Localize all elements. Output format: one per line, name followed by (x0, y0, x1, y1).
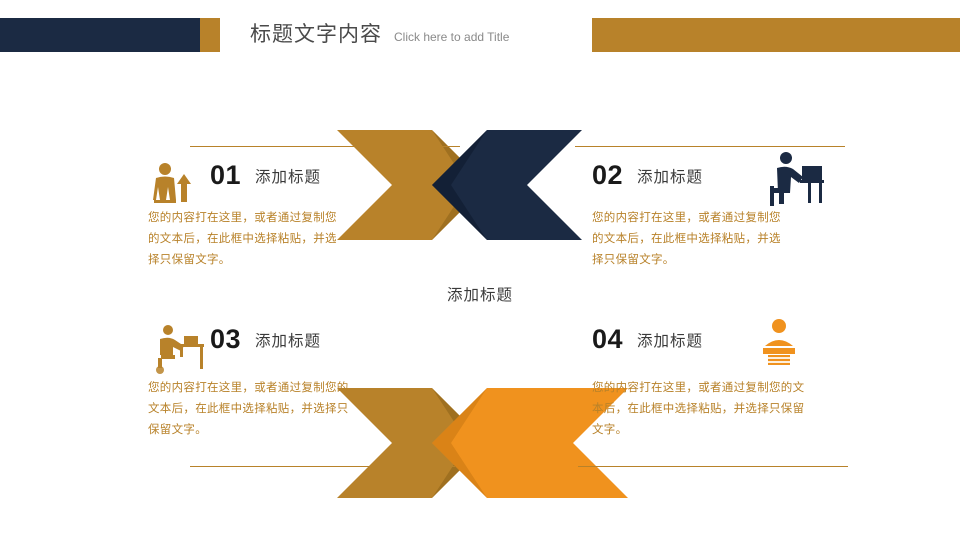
quadrant-03-head: 03 添加标题 (210, 324, 478, 355)
quadrant-02-title: 添加标题 (637, 165, 703, 187)
quadrant-03-number: 03 (210, 324, 241, 355)
quadrant-03-title: 添加标题 (255, 329, 321, 351)
person-speaking-podium-icon (752, 316, 808, 372)
divider-rule-02 (575, 146, 845, 147)
page-title: 标题文字内容 (250, 18, 382, 48)
header-bar-left (0, 18, 200, 52)
quadrant-01-number: 01 (210, 160, 241, 191)
divider-rule-04 (578, 466, 848, 467)
quadrant-02-body: 您的内容打在这里，或者通过复制您的文本后，在此框中选择粘贴，并选择只保留文字。 (592, 207, 792, 270)
quadrant-03-body: 您的内容打在这里，或者通过复制您的文本后，在此框中选择粘贴，并选择只保留文字。 (148, 377, 353, 440)
page-subtitle: Click here to add Title (394, 30, 509, 44)
center-label: 添加标题 (0, 283, 960, 305)
quadrant-02[interactable]: 02 添加标题 您的内容打在这里，或者通过复制您的文本后，在此框中选择粘贴，并选… (592, 160, 932, 270)
quadrant-02-head: 02 添加标题 (592, 160, 932, 191)
quadrant-01-head: 01 添加标题 (210, 160, 478, 191)
person-at-desk-icon (148, 322, 206, 376)
quadrant-02-number: 02 (592, 160, 623, 191)
header-bar-left-accent (200, 18, 220, 52)
person-presenting-chart-icon (148, 160, 202, 214)
header-bar-right (592, 18, 960, 52)
quadrant-04-body: 您的内容打在这里，或者通过复制您的文本后，在此框中选择粘贴，并选择只保留文字。 (592, 377, 807, 440)
quadrant-04-title: 添加标题 (637, 329, 703, 351)
ribbon-graphic (0, 0, 960, 540)
quadrant-04-number: 04 (592, 324, 623, 355)
quadrant-01-body: 您的内容打在这里，或者通过复制您的文本后，在此框中选择粘贴，并选择只保留文字。 (148, 207, 348, 270)
divider-rule-01 (190, 146, 460, 147)
quadrant-01-title: 添加标题 (255, 165, 321, 187)
person-at-laptop-icon (764, 148, 826, 208)
quadrant-01[interactable]: 01 添加标题 您的内容打在这里，或者通过复制您的文本后，在此框中选择粘贴，并选… (148, 160, 478, 270)
divider-rule-03 (190, 466, 455, 467)
quadrant-03[interactable]: 03 添加标题 您的内容打在这里，或者通过复制您的文本后，在此框中选择粘贴，并选… (148, 324, 478, 440)
slide-canvas: 标题文字内容 Click here to add Title (0, 0, 960, 540)
header-title-zone: 标题文字内容 Click here to add Title (250, 18, 509, 52)
quadrant-04[interactable]: 04 添加标题 您的内容打在这里，或者通过复制您的文本后，在此框中选择粘贴，并选… (592, 324, 932, 440)
